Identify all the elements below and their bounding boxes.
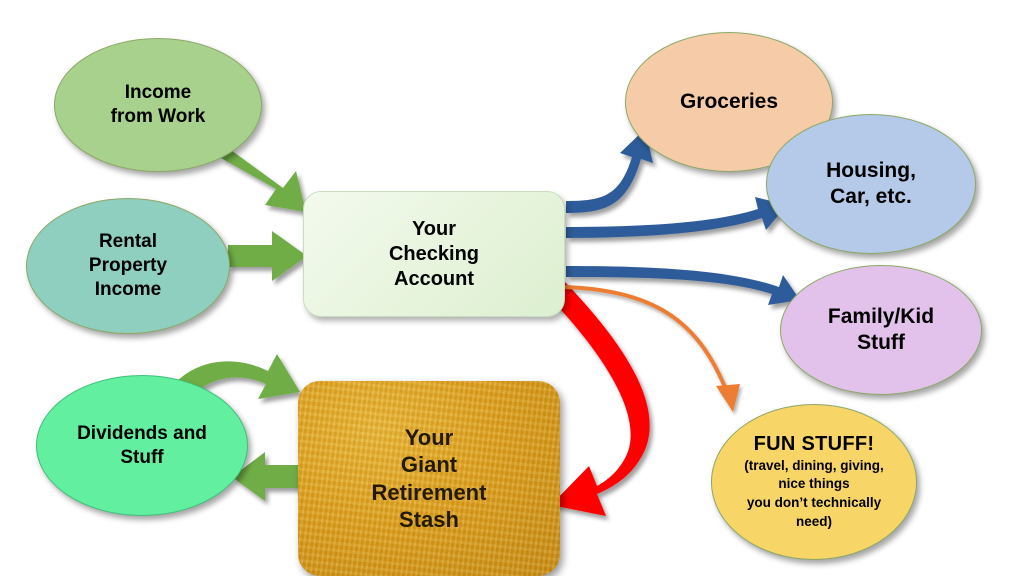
node-housing-car[interactable]: Housing, Car, etc.: [766, 114, 976, 254]
arrow-rental-income-to-checking: [228, 231, 307, 281]
node-retirement-stash-label: Your Giant Retirement Stash: [366, 424, 493, 534]
node-fun-stuff-title: FUN STUFF!: [754, 433, 875, 456]
node-fun-stuff-subtitle: (travel, dining, giving, nice things you…: [744, 457, 884, 532]
node-housing-car-label: Housing, Car, etc.: [820, 158, 922, 211]
node-income-from-work-label: Income from Work: [105, 81, 212, 129]
diagram-canvas: Income from Work Rental Property Income …: [0, 0, 1024, 576]
node-retirement-stash[interactable]: Your Giant Retirement Stash: [298, 381, 560, 576]
node-groceries-label: Groceries: [674, 89, 784, 115]
node-rental-property-income-label: Rental Property Income: [83, 230, 173, 301]
node-checking-account[interactable]: Your Checking Account: [303, 191, 565, 317]
node-fun-stuff[interactable]: FUN STUFF! (travel, dining, giving, nice…: [711, 404, 917, 560]
node-family-kid-stuff[interactable]: Family/Kid Stuff: [780, 265, 982, 395]
arrow-checking-to-groceries: [566, 129, 653, 213]
node-family-kid-stuff-label: Family/Kid Stuff: [822, 304, 940, 357]
arrow-checking-to-fun-stuff: [566, 287, 740, 412]
arrow-checking-to-family: [566, 266, 800, 305]
node-dividends-and-stuff-label: Dividends and Stuff: [71, 422, 213, 470]
node-dividends-and-stuff[interactable]: Dividends and Stuff: [36, 375, 248, 516]
node-checking-account-label: Your Checking Account: [383, 217, 485, 292]
arrow-income-work-to-checking: [221, 148, 306, 212]
node-rental-property-income[interactable]: Rental Property Income: [26, 198, 230, 334]
arrow-checking-to-retirement: [546, 280, 650, 516]
node-income-from-work[interactable]: Income from Work: [54, 38, 262, 172]
